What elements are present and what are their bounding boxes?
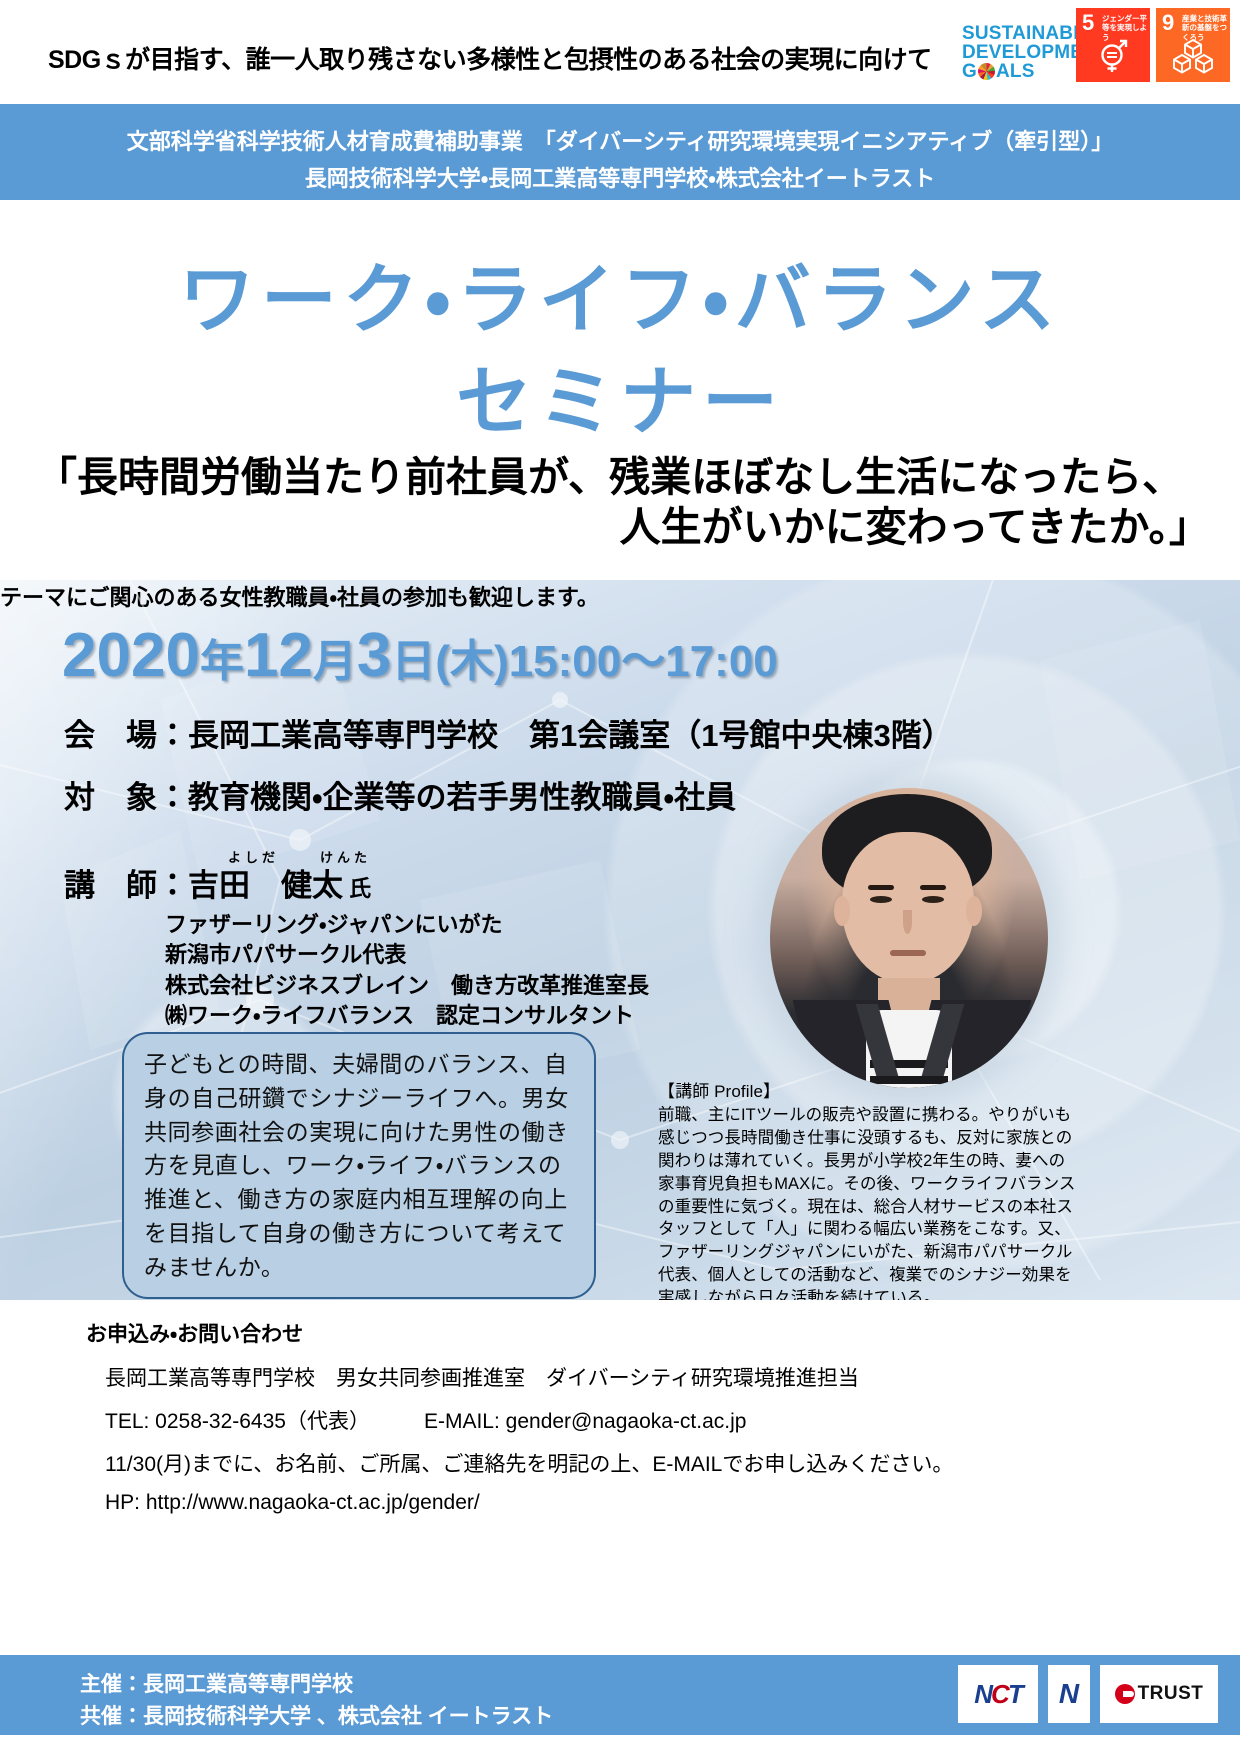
- sdg-logo-group: SUSTAINABLE DEVELOPMENT G ALS 5 ジェンダー平等を…: [962, 8, 1230, 96]
- photo-brow-left: [868, 885, 894, 890]
- sdg-wordmark-line2: DEVELOPMENT: [962, 43, 1070, 62]
- profile-heading: 【講師 Profile】: [658, 1080, 1078, 1103]
- event-day-unit: 日(木): [391, 637, 508, 686]
- affiliation-item: 新潟市パパサークル代表: [165, 940, 649, 970]
- target-value: 教育機関・企業等の若手男性教職員・社員: [188, 780, 736, 815]
- contact-office: 長岡工業高等専門学校 男女共同参画推進室 ダイバーシティ研究環境推進担当: [105, 1362, 859, 1392]
- photo-brow-right: [920, 885, 946, 890]
- contact-hp[interactable]: HP: http://www.nagaoka-ct.ac.jp/gender/: [105, 1491, 480, 1515]
- etrust-mark-icon: [1115, 1684, 1135, 1704]
- event-time: 15:00〜17:00: [509, 637, 778, 686]
- target-row: 対 象：教育機関・企業等の若手男性教職員・社員: [64, 772, 736, 817]
- industry-innovation-icon: [1156, 38, 1230, 79]
- gender-equality-icon: [1076, 36, 1150, 79]
- sdg-wordmark-g: G: [962, 62, 977, 81]
- nct-logo: NCT: [958, 1665, 1038, 1723]
- photo-face: [842, 832, 974, 984]
- lecturer-row: 講 師：吉田 健太 氏: [64, 860, 371, 905]
- lecturer-name: 吉田 健太: [188, 868, 343, 903]
- photo-eye-left: [870, 896, 892, 903]
- sdg-goal-9-tile: 9 産業と技術革新の基盤をつくろう: [1156, 8, 1230, 82]
- affiliation-item: ファザーリング・ジャパンにいがた: [165, 910, 649, 940]
- sdg-wordmark-line3: G ALS: [962, 62, 1070, 81]
- venue-value: 長岡工業高等専門学校 第1会議室（1号館中央棟3階）: [188, 718, 953, 753]
- title-block: ワーク・ライフ・バランス セミナー 「長時間労働当たり前社員が、残業ほぼなし生活…: [0, 200, 1240, 580]
- event-month: 12: [244, 621, 313, 690]
- profile-body: 前職、主にITツールの販売や設置に携わる。やりがいも感じつつ長時間働き仕事に没頭…: [658, 1104, 1078, 1300]
- contact-tel-email: TEL: 0258-32-6435（代表）E-MAIL: gender@naga…: [105, 1405, 746, 1435]
- sdg-goal-5-tile: 5 ジェンダー平等を実現しよう: [1076, 8, 1150, 82]
- poster-header: SDGｓが目指す、誰一人取り残さない多様性と包摂性のある社会の実現に向けて SU…: [0, 0, 1240, 104]
- venue-label: 会 場：: [64, 718, 188, 753]
- affiliation-item: ㈱ワーク・ライフバランス 認定コンサルタント: [165, 1001, 649, 1031]
- event-day: 3: [357, 621, 391, 690]
- etrust-logo: TRUST: [1100, 1665, 1218, 1723]
- target-label: 対 象：: [64, 780, 188, 815]
- contact-section: お申込み・お問い合わせ 長岡工業高等専門学校 男女共同参画推進室 ダイバーシティ…: [0, 1300, 1240, 1490]
- contact-email[interactable]: E-MAIL: gender@nagaoka-ct.ac.jp: [424, 1410, 747, 1433]
- photo-ear-left: [834, 896, 850, 926]
- venue-row: 会 場：長岡工業高等専門学校 第1会議室（1号館中央棟3階）: [64, 710, 953, 755]
- lecturer-profile: 【講師 Profile】 前職、主にITツールの販売や設置に携わる。やりがいも感…: [658, 1080, 1078, 1300]
- seminar-quote-line2: 人生がいかに変わってきたか。」: [0, 500, 1240, 555]
- program-name: 文部科学省科学技術人材育成費補助事業 「ダイバーシティ研究環境実現イニシアティブ…: [0, 124, 1240, 156]
- affiliation-item: 株式会社ビジネスブレイン 働き方改革推進室長: [165, 971, 649, 1001]
- sdg-wordmark: SUSTAINABLE DEVELOPMENT G ALS: [962, 8, 1070, 96]
- sdg-goal-5-number: 5: [1082, 12, 1094, 34]
- event-datetime: 2020年12月3日(木)15:00〜17:00: [62, 620, 778, 691]
- lecturer-photo: [770, 788, 1048, 1088]
- lecturer-affiliations: ファザーリング・ジャパンにいがた 新潟市パパサークル代表 株式会社ビジネスブレイ…: [165, 910, 649, 1031]
- nut-logo: N: [1048, 1665, 1090, 1723]
- program-subtitle-bar: 文部科学省科学技術人材育成費補助事業 「ダイバーシティ研究環境実現イニシアティブ…: [0, 104, 1240, 200]
- photo-ear-right: [966, 896, 982, 926]
- sdg-wordmark-line1: SUSTAINABLE: [962, 24, 1070, 43]
- page-title-line2: セミナー: [0, 340, 1240, 450]
- footer-coorganizer: 共催：長岡技術科学大学 、株式会社 イートラスト: [80, 1700, 553, 1730]
- seminar-description-bubble: 子どもとの時間、夫婦間のバランス、自身の自己研鑽でシナジーライフへ。男女共同参画…: [122, 1032, 596, 1299]
- photo-nose: [903, 910, 912, 934]
- photo-mouth: [890, 950, 926, 956]
- event-details-section: 2020年12月3日(木)15:00〜17:00 会 場：長岡工業高等専門学校 …: [0, 580, 1240, 1300]
- seminar-quote-line1: 「長時間労働当たり前社員が、残業ほぼなし生活になったら、: [0, 450, 1240, 505]
- seminar-poster: SDGｓが目指す、誰一人取り残さない多様性と包摂性のある社会の実現に向けて SU…: [0, 0, 1240, 1754]
- footer-organizer: 主催：長岡工業高等専門学校: [80, 1668, 353, 1698]
- sdg-goal-9-number: 9: [1162, 12, 1174, 34]
- contact-deadline: 11/30(月)までに、お名前、ご所属、ご連絡先を明記の上、E-MAILでお申し…: [105, 1448, 953, 1478]
- footer-logo-group: NCT N TRUST: [958, 1665, 1218, 1723]
- program-institutions: 長岡技術科学大学・長岡工業高等専門学校・株式会社イートラスト: [0, 161, 1240, 193]
- contact-heading: お申込み・お問い合わせ: [86, 1318, 303, 1348]
- header-tagline: SDGｓが目指す、誰一人取り残さない多様性と包摂性のある社会の実現に向けて: [48, 40, 932, 76]
- page-title-line1: ワーク・ライフ・バランス: [0, 238, 1240, 348]
- event-year-unit: 年: [200, 637, 244, 686]
- event-year: 2020: [62, 621, 200, 690]
- contact-tel: TEL: 0258-32-6435（代表）: [105, 1410, 370, 1433]
- lecturer-suffix: 氏: [349, 876, 371, 901]
- sdg-color-wheel-icon: [978, 63, 995, 80]
- poster-footer: 主催：長岡工業高等専門学校 共催：長岡技術科学大学 、株式会社 イートラスト N…: [0, 1655, 1240, 1735]
- event-month-unit: 月: [313, 637, 357, 686]
- photo-eye-right: [922, 896, 944, 903]
- sdg-wordmark-als: ALS: [996, 62, 1035, 81]
- lecturer-label: 講 師：: [64, 868, 188, 903]
